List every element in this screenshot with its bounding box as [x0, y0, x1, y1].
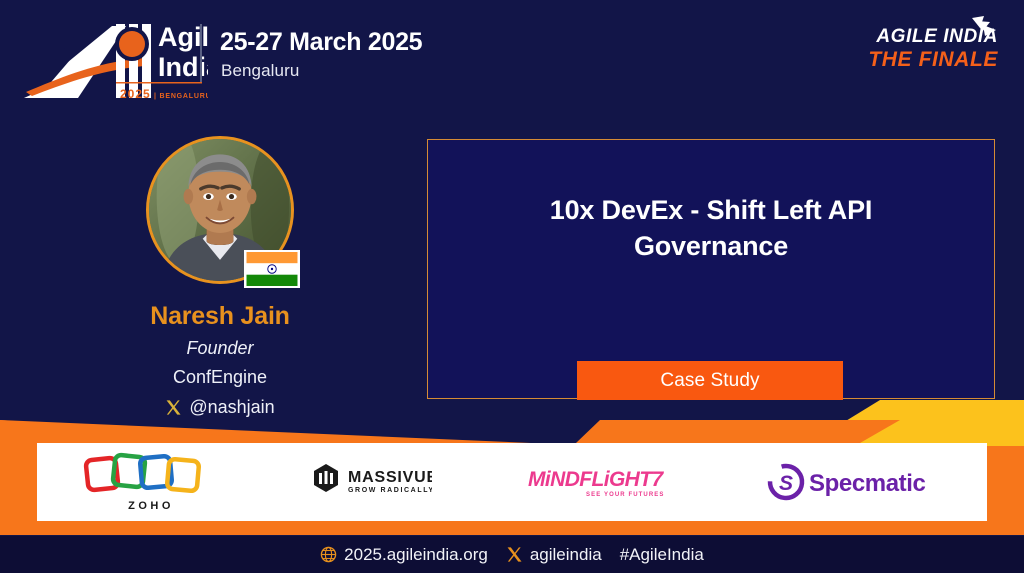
speaker-name: Naresh Jain	[108, 302, 332, 331]
sponsor-mindflight7[interactable]: MiNDFLiGHT7 SEE YOUR FUTURES	[524, 462, 674, 502]
footer-website-text: 2025.agileindia.org	[344, 545, 488, 565]
svg-text:SEE YOUR FUTURES: SEE YOUR FUTURES	[586, 492, 665, 498]
x-twitter-icon	[165, 399, 182, 416]
header-divider	[200, 24, 202, 82]
slide-canvas: Agile India 2025 | BENGALURU 25-27 March…	[0, 0, 1024, 573]
sponsor-massivue[interactable]: MASSIVUE GROW RADICALLY	[310, 462, 432, 502]
header-bar: Agile India 2025 | BENGALURU 25-27 March…	[0, 0, 1024, 118]
specmatic-logo: S Specmatic	[765, 461, 941, 503]
talk-title: 10x DevEx - Shift Left API Governance	[476, 193, 946, 264]
speaker-handle-text: @nashjain	[189, 397, 274, 418]
agile-india-logo-mark: Agile India 2025 | BENGALURU	[16, 10, 208, 108]
svg-text:MASSIVUE: MASSIVUE	[348, 469, 432, 486]
svg-text:MiNDFLiGHT7: MiNDFLiGHT7	[528, 468, 664, 491]
mindflight7-logo: MiNDFLiGHT7 SEE YOUR FUTURES	[524, 462, 674, 502]
footer-social-text: agileindia	[530, 545, 602, 565]
india-flag	[246, 252, 298, 286]
event-city: Bengaluru	[221, 61, 299, 81]
svg-text:Specmatic: Specmatic	[809, 470, 926, 497]
footer-bar: 2025.agileindia.org agileindia #AgileInd…	[0, 536, 1024, 573]
globe-icon	[320, 546, 337, 563]
speaker-role: Founder	[108, 338, 332, 359]
sponsor-specmatic[interactable]: S Specmatic	[765, 461, 941, 503]
talk-type-badge-label: Case Study	[660, 370, 759, 392]
svg-text:2025: 2025	[120, 87, 151, 101]
massivue-logo: MASSIVUE GROW RADICALLY	[310, 462, 432, 502]
agile-india-logo[interactable]: Agile India 2025 | BENGALURU	[16, 10, 208, 108]
footer-social[interactable]: agileindia	[506, 545, 602, 565]
finale-logo: AGILE INDIA THE FINALE	[868, 26, 998, 72]
speaker-organization: ConfEngine	[108, 367, 332, 388]
sponsor-strip: ZOHO MASSIVUE GROW RADICALLY MiNDFLiGHT7…	[37, 443, 987, 521]
avatar-wrapper	[146, 136, 294, 284]
x-twitter-icon	[506, 546, 523, 563]
finale-subtitle: THE FINALE	[868, 48, 998, 72]
zoho-logo: ZOHO	[83, 451, 219, 513]
event-date: 25-27 March 2025	[220, 28, 422, 57]
svg-text:S: S	[779, 472, 793, 495]
burst-icon	[968, 14, 1002, 48]
sponsor-zoho[interactable]: ZOHO	[83, 451, 219, 513]
svg-text:GROW RADICALLY: GROW RADICALLY	[348, 487, 432, 494]
svg-text:ZOHO: ZOHO	[128, 500, 174, 512]
svg-text:| BENGALURU: | BENGALURU	[154, 93, 208, 100]
footer-hashtag: #AgileIndia	[620, 545, 704, 565]
footer-website[interactable]: 2025.agileindia.org	[320, 545, 488, 565]
speaker-block: Naresh Jain Founder ConfEngine @nashjain	[108, 136, 332, 418]
talk-type-badge: Case Study	[577, 361, 843, 400]
speaker-social-handle[interactable]: @nashjain	[108, 397, 332, 418]
india-flag-icon	[244, 250, 300, 288]
talk-title-card: 10x DevEx - Shift Left API Governance	[427, 139, 995, 399]
